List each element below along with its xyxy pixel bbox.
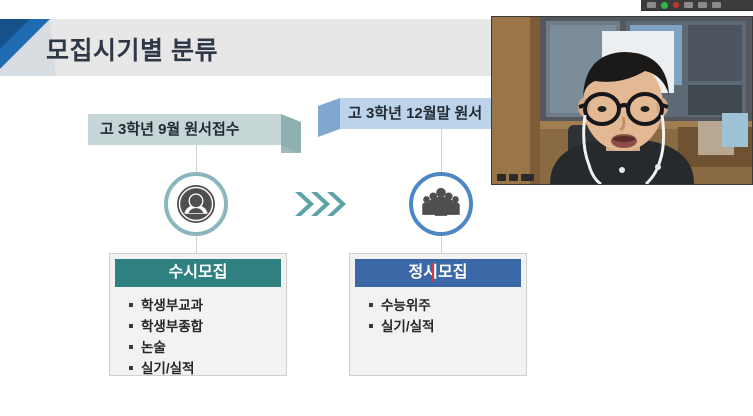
- card-left: 수시모집 학생부교과 학생부종합 논술 실기/실적: [109, 253, 287, 376]
- single-person-icon: [176, 184, 216, 224]
- card-right-list: 수능위주 실기/실적: [355, 295, 521, 337]
- node-circle-left: [164, 172, 228, 236]
- camera-status-icon: [509, 174, 518, 181]
- card-left-list: 학생부교과 학생부종합 논술 실기/실적: [115, 295, 281, 379]
- card-right: 정시모집 수능위주 실기/실적: [349, 253, 527, 376]
- stop-dot-icon[interactable]: [673, 2, 679, 8]
- list-item: 학생부교과: [129, 295, 281, 316]
- mic-status-icon: [497, 174, 506, 181]
- banner-right-label: 고 3학년 12월말 원서: [318, 98, 482, 129]
- name-tag-icon: [521, 174, 534, 181]
- presentation-screen: 모집시기별 분류 고 3학년 9월 원서접수 고 3학년 12월말 원서: [0, 0, 753, 416]
- video-frame: [492, 17, 752, 184]
- presenter-video-feed[interactable]: [491, 16, 753, 185]
- node-circle-right: [409, 172, 473, 236]
- card-left-header: 수시모집: [115, 259, 281, 287]
- list-item: 논술: [129, 337, 281, 358]
- record-dot-icon[interactable]: [661, 2, 668, 9]
- text-cursor-marker: [432, 263, 434, 282]
- video-status-badges: [497, 174, 534, 181]
- triple-chevron-right-icon: [293, 189, 351, 219]
- group-people-icon: [421, 186, 461, 222]
- banner-left-label: 고 3학년 9월 원서접수: [88, 114, 240, 145]
- minimize-icon[interactable]: [647, 2, 656, 8]
- list-item: 실기/실적: [129, 358, 281, 379]
- grid-icon[interactable]: [684, 2, 693, 8]
- banner-right: 고 3학년 12월말 원서: [318, 98, 518, 129]
- menu-icon[interactable]: [712, 2, 721, 8]
- card-right-header: 정시모집: [355, 259, 521, 287]
- list-item: 학생부종합: [129, 316, 281, 337]
- page-title: 모집시기별 분류: [46, 31, 218, 67]
- list-item: 실기/실적: [369, 316, 521, 337]
- panel-icon[interactable]: [698, 2, 707, 8]
- banner-left: 고 3학년 9월 원서접수: [88, 114, 301, 145]
- list-item: 수능위주: [369, 295, 521, 316]
- recording-toolbar[interactable]: [641, 0, 753, 11]
- card-right-header-label: 정시모집: [409, 264, 468, 281]
